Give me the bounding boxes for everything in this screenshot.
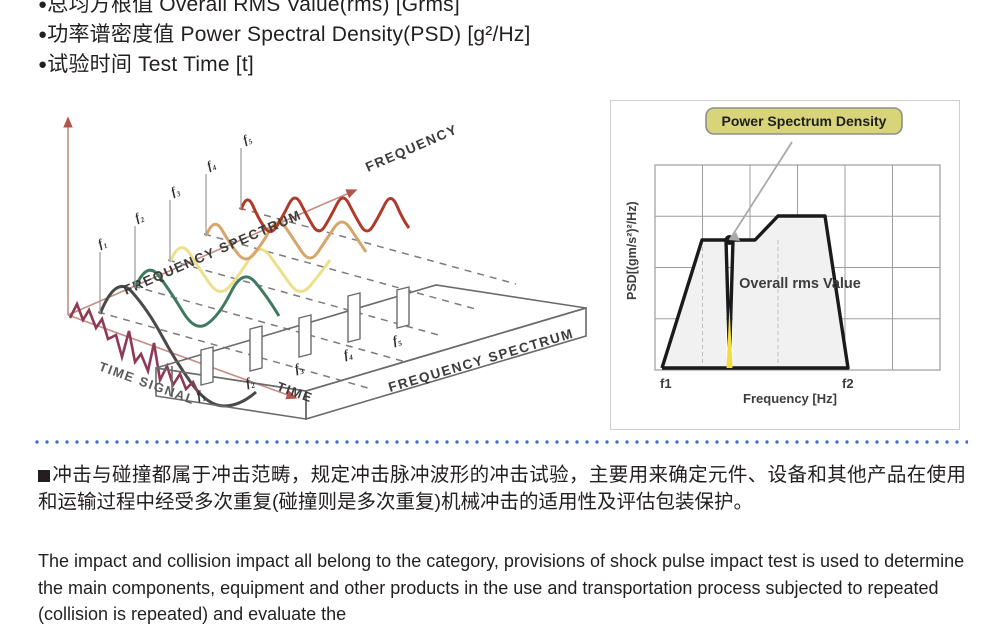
bullet-dot-icon: ●	[38, 56, 47, 73]
bullet-text-test-time: 试验时间 Test Time [t]	[47, 53, 254, 76]
label-time-axis: TIME	[275, 379, 315, 406]
label-frequency-spectrum-bottom: FREQUENCY SPECTRUM	[387, 326, 576, 395]
wave-frequency-labels: f₁ f₂ f₃ f₄ f₅	[96, 131, 254, 251]
label-frequency-spectrum-top: FREQUENCY SPECTRUM	[121, 207, 304, 298]
x-tick-f1: f1	[660, 376, 672, 391]
svg-text:f₄: f₄	[342, 346, 354, 362]
english-paragraph: The impact and collision impact all belo…	[38, 548, 966, 628]
wave-tick-stems	[100, 148, 241, 314]
figure-band: FREQUENCY SPECTRUM FREQUENCY TIME SIGNAL…	[38, 100, 960, 430]
parameter-bullet-list: ●总均方根值 Overall RMS Value(rms) [Grms] ●功率…	[38, 0, 978, 80]
bullet-text-psd: 功率谱密度值 Power Spectral Density(PSD) [g²/H…	[47, 23, 530, 46]
label-frequency-axis: FREQUENCY	[363, 121, 460, 174]
y-axis-label: PSD[(gm/s²)²/Hz)	[625, 201, 639, 300]
x-axis-label: Frequency [Hz]	[743, 391, 837, 406]
bullet-text-rms: 总均方根值 Overall RMS Value(rms) [Grms]	[47, 0, 460, 16]
bullet-item-test-time: ●试验时间 Test Time [t]	[38, 50, 978, 80]
psd-chart: Power Spectrum Density Overall rms Value…	[610, 100, 960, 430]
bullet-dot-icon: ●	[38, 26, 47, 43]
waterfall-spectrum-diagram: FREQUENCY SPECTRUM FREQUENCY TIME SIGNAL…	[38, 100, 608, 430]
bullet-item-rms: ●总均方根值 Overall RMS Value(rms) [Grms]	[38, 0, 978, 20]
section-divider	[32, 438, 968, 444]
svg-text:f₃: f₃	[169, 183, 182, 199]
chinese-paragraph: 冲击与碰撞都属于冲击范畴，规定冲击脉冲波形的冲击试验，主要用来确定元件、设备和其…	[38, 462, 966, 516]
svg-text:f₃: f₃	[293, 360, 305, 376]
callout-label: Power Spectrum Density	[722, 113, 887, 129]
svg-text:f₂: f₂	[244, 374, 256, 390]
page-root: ●总均方根值 Overall RMS Value(rms) [Grms] ●功率…	[0, 0, 1000, 623]
x-tick-f2: f2	[842, 376, 854, 391]
svg-text:f₂: f₂	[133, 209, 146, 225]
bullet-dot-icon: ●	[38, 0, 47, 13]
svg-text:f₄: f₄	[205, 157, 218, 173]
svg-text:f₅: f₅	[391, 332, 403, 348]
svg-text:f₁: f₁	[195, 387, 207, 403]
bullet-item-psd: ●功率谱密度值 Power Spectral Density(PSD) [g²/…	[38, 20, 978, 50]
svg-text:f₅: f₅	[241, 131, 254, 147]
chinese-paragraph-text: 冲击与碰撞都属于冲击范畴，规定冲击脉冲波形的冲击试验，主要用来确定元件、设备和其…	[38, 464, 966, 513]
square-bullet-icon	[38, 470, 50, 482]
overall-rms-label: Overall rms Value	[739, 276, 861, 292]
svg-text:f₁: f₁	[96, 235, 109, 251]
